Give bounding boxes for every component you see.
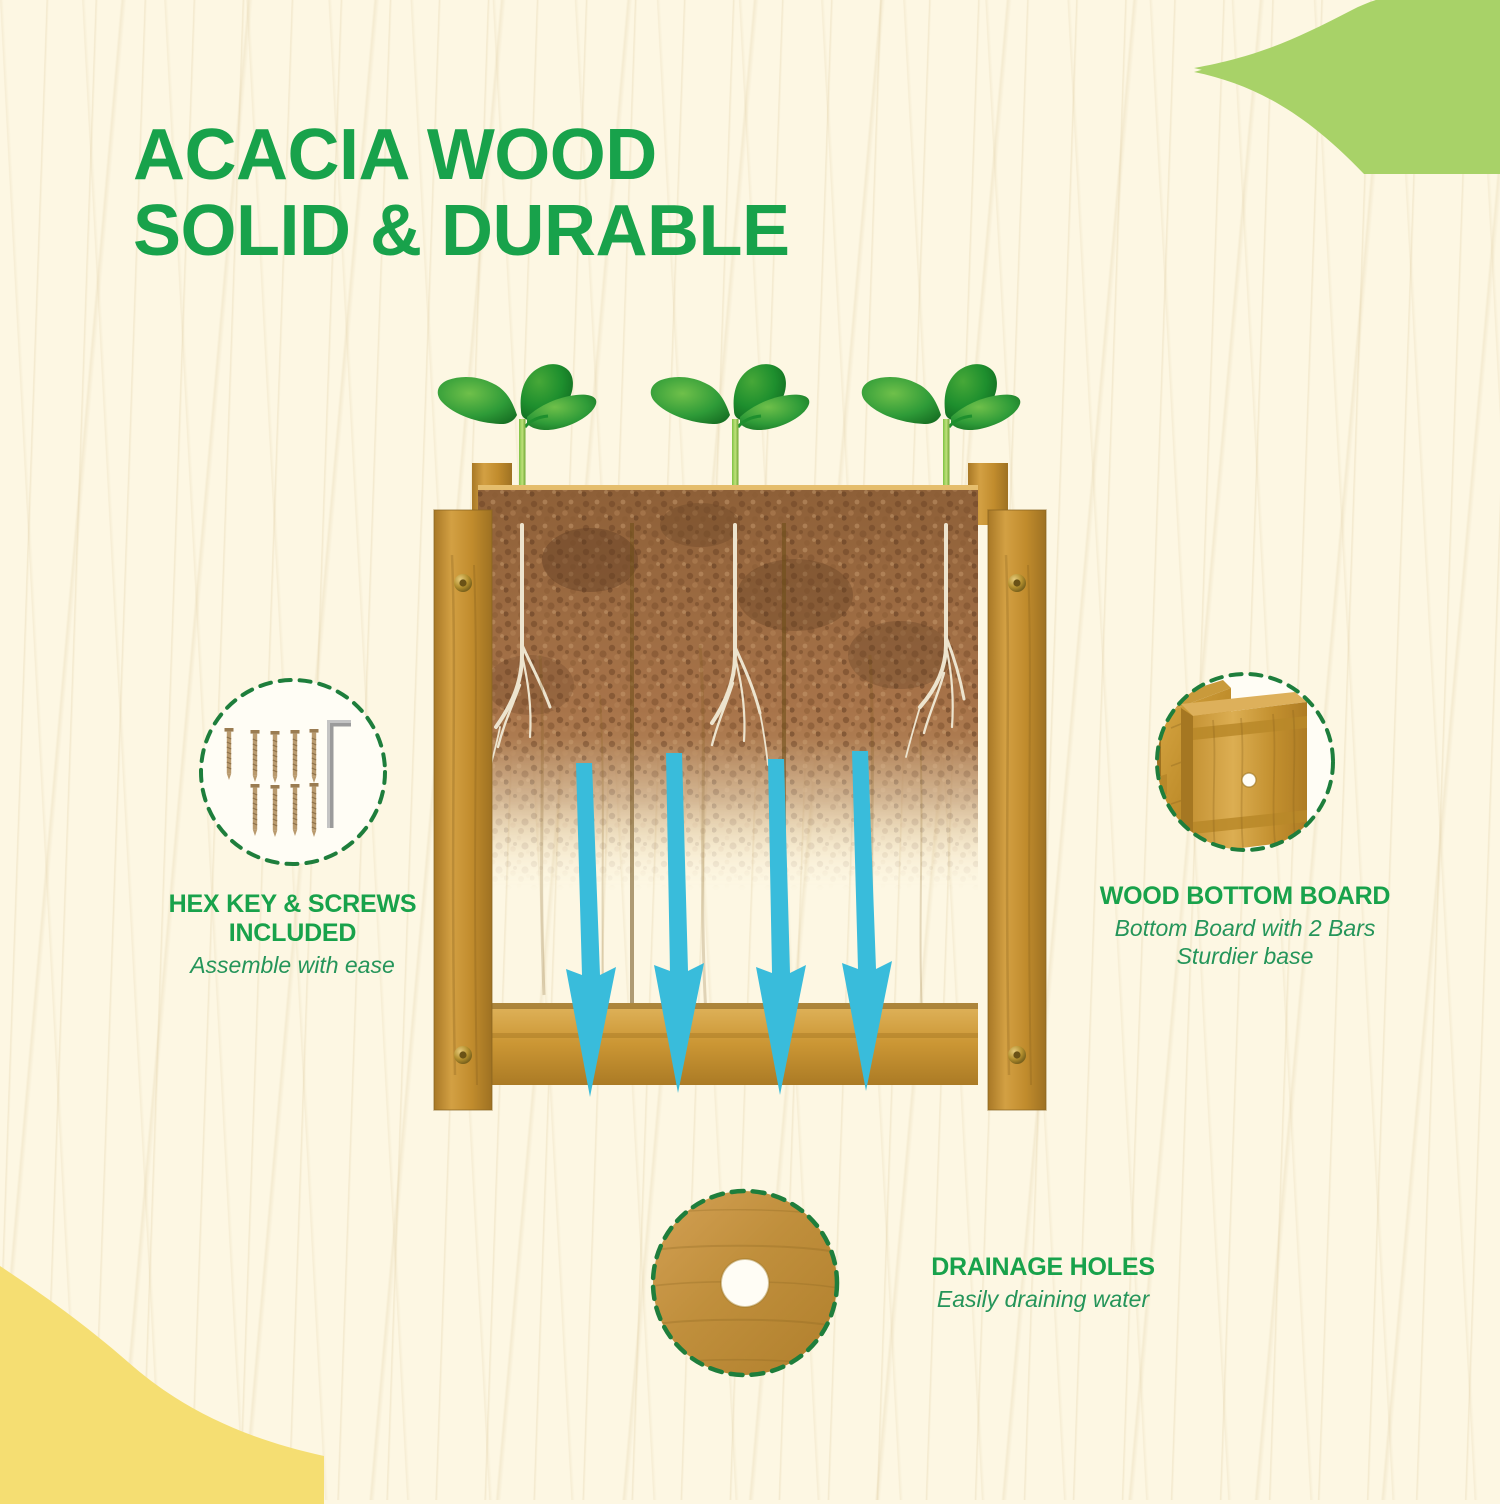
yellow-corner-blob bbox=[0, 1194, 324, 1504]
drainage-hole-disc-icon-wrap bbox=[640, 1178, 850, 1388]
planter-front-panel bbox=[478, 523, 978, 1085]
screws-and-hex-key-icon-wrap bbox=[193, 672, 393, 872]
feature-title: DRAINAGE HOLES bbox=[886, 1253, 1200, 1282]
feature-subtitle: Easily draining water bbox=[886, 1286, 1200, 1314]
main-bottom-board bbox=[1181, 692, 1307, 854]
screws-and-hex-key-icon bbox=[193, 672, 393, 872]
feature-subtitle: Bottom Board with 2 Bars Sturdier base bbox=[1010, 915, 1480, 970]
wood-bottom-board-icon bbox=[1145, 662, 1345, 862]
wood-bottom-board-icon-wrap bbox=[1145, 662, 1345, 862]
feature-hex-key-screws-text: HEX KEY & SCREWS INCLUDED Assemble with … bbox=[55, 890, 530, 980]
feature-drainage-holes-text: DRAINAGE HOLES Easily draining water bbox=[886, 1253, 1200, 1314]
drainage-hole-disc-icon bbox=[640, 1178, 850, 1388]
feature-hex-key-screws: HEX KEY & SCREWS INCLUDED Assemble with … bbox=[55, 672, 530, 980]
feature-wood-bottom-board: WOOD BOTTOM BOARD Bottom Board with 2 Ba… bbox=[1010, 662, 1480, 970]
feature-title: WOOD BOTTOM BOARD bbox=[1010, 882, 1480, 911]
feature-wood-bottom-board-text: WOOD BOTTOM BOARD Bottom Board with 2 Ba… bbox=[1010, 882, 1480, 970]
feature-drainage-holes: DRAINAGE HOLES Easily draining water bbox=[640, 1178, 1200, 1388]
feature-subtitle: Assemble with ease bbox=[55, 952, 530, 980]
feature-title: HEX KEY & SCREWS INCLUDED bbox=[55, 890, 530, 948]
green-corner-blob bbox=[1194, 0, 1500, 174]
page-title: ACACIA WOOD SOLID & DURABLE bbox=[133, 118, 790, 269]
